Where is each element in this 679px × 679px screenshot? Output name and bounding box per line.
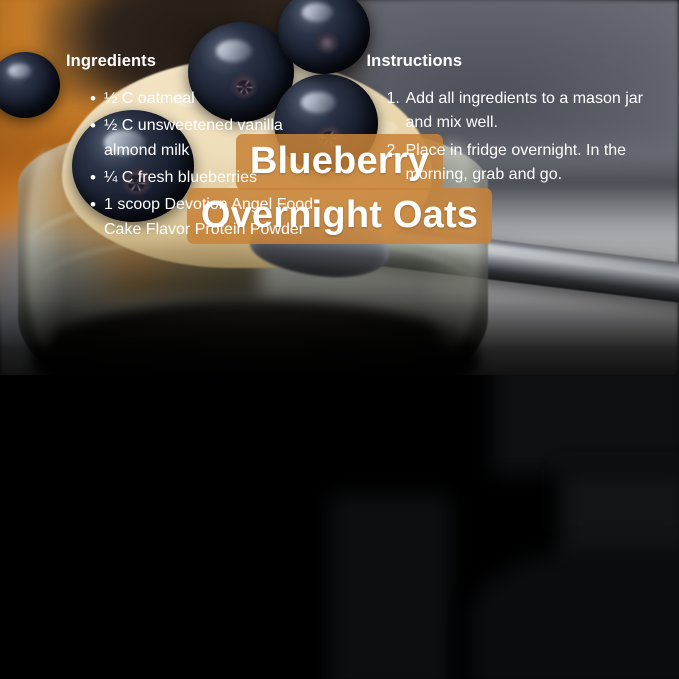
list-item: ½ C unsweetened vanilla almond milk [92,114,340,163]
list-item: 1 scoop Devotion Angel Food Cake Flavor … [92,193,340,242]
ingredients-column: Ingredients ½ C oatmeal ½ C unsweetened … [20,52,340,679]
instructions-heading: Instructions [367,52,660,71]
ingredients-heading: Ingredients [66,52,340,71]
list-item: Add all ingredients to a mason jar and m… [387,87,660,136]
recipe-card: Blueberry Overnight Oats Ingredients ½ C… [0,0,679,679]
instructions-column: Instructions Add all ingredients to a ma… [340,52,660,679]
list-item: Place in fridge overnight. In the mornin… [387,139,660,188]
list-item: ¼ C fresh blueberries [92,166,340,190]
list-item: ½ C oatmeal [92,87,340,111]
ingredients-list: ½ C oatmeal ½ C unsweetened vanilla almo… [66,87,340,242]
instructions-list: Add all ingredients to a mason jar and m… [367,87,660,187]
recipe-columns: Ingredients ½ C oatmeal ½ C unsweetened … [0,0,679,679]
